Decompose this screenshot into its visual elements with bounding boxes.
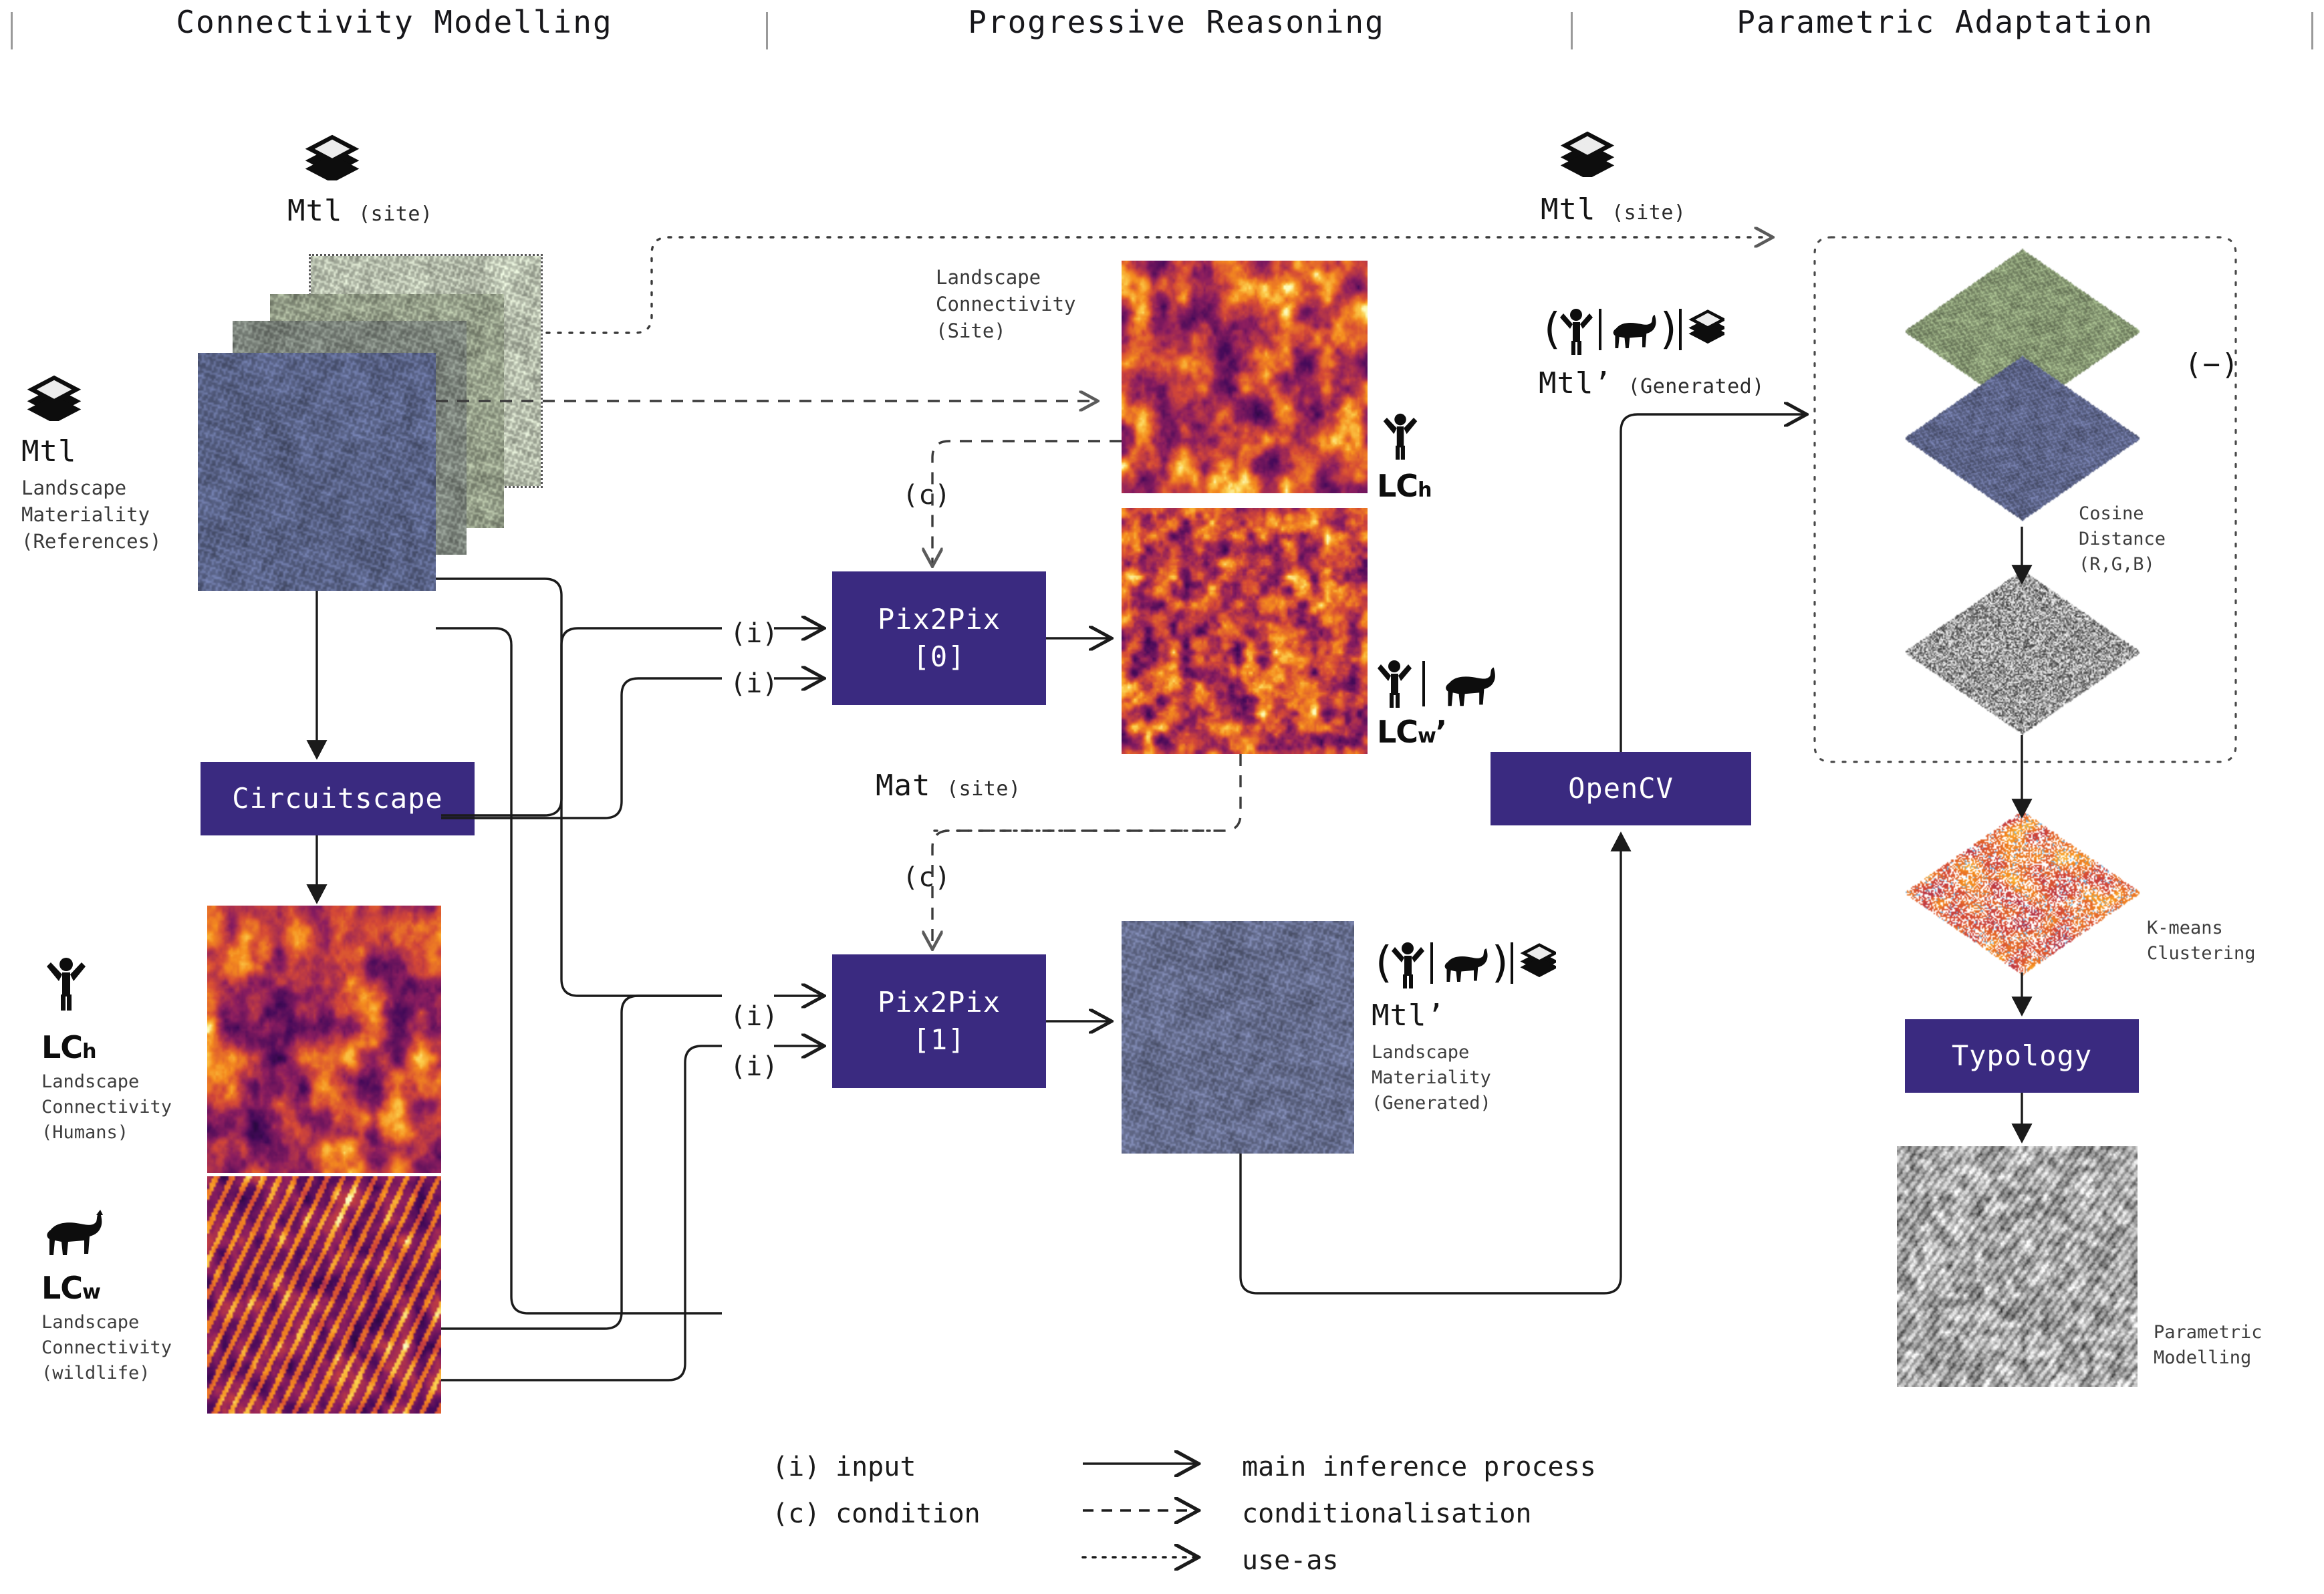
legend-text-use-as: use-as (1242, 1545, 1339, 1576)
lcw-prime-label: LCw’ (1377, 714, 1446, 750)
heatmap-lch-left (207, 906, 441, 1173)
legend-marker-condition: (c) (772, 1498, 820, 1529)
svg-text:(: ( (1370, 938, 1396, 988)
pix2pix-0-line2: [0] (913, 638, 966, 676)
lch-left-label: LCh (41, 1029, 96, 1065)
opencv-label: OpenCV (1568, 770, 1674, 807)
heatmap-lcw-left (207, 1176, 441, 1414)
human-wolf-layers-icon-mtl-prime-mid: ( ) (1369, 936, 1556, 990)
process-box-pix2pix-0[interactable]: Pix2Pix [0] (832, 571, 1046, 705)
node-label-mat-site: Mat (site) (876, 769, 1021, 803)
lcw-prime-subscript: w (1418, 724, 1436, 748)
parametric-modelling-tile (1897, 1146, 2138, 1387)
mtl-site-top-qualifier: (site) (358, 203, 432, 226)
lcw-left-subscript: w (82, 1281, 100, 1304)
node-label-mtl-site-right: Mtl (site) (1541, 192, 1686, 227)
legend-text-conditionalisation: conditionalisation (1242, 1498, 1531, 1529)
edge-label-input-p1-a: (i) (730, 1001, 778, 1032)
svg-text:): ) (1656, 305, 1682, 354)
column-title-parametric: Parametric Adaptation (1597, 4, 2293, 40)
parametric-modelling-desc: Parametric Modelling (2154, 1320, 2263, 1371)
column-title-connectivity: Connectivity Modelling (40, 4, 749, 40)
lch-left-subscript: h (82, 1040, 96, 1063)
heatmap-lcw-prime (1122, 508, 1368, 754)
generated-materiality-tile (1122, 921, 1354, 1154)
process-box-circuitscape[interactable]: Circuitscape (201, 762, 475, 835)
diagram-canvas: Connectivity Modelling Progressive Reaso… (0, 0, 2324, 1594)
diamond-tile-kmeans (1902, 809, 2142, 976)
human-icon-lch-mid (1382, 412, 1418, 460)
edge-label-input-p1-b: (i) (730, 1051, 778, 1082)
typology-label: Typology (1952, 1037, 2092, 1075)
lcw-prime-base: LC (1377, 714, 1418, 750)
lcw-left-label: LCw (41, 1270, 100, 1306)
pix2pix-1-line2: [1] (913, 1021, 966, 1059)
edge-label-condition-p0: (c) (902, 480, 950, 511)
diamond-tile-point-cloud-grey (1902, 568, 2142, 735)
pix2pix-0-line1: Pix2Pix (878, 601, 1001, 638)
human-wolf-layers-icon-mtl-prime-right: ( ) (1537, 302, 1724, 357)
minus-operator-label: (−) (2184, 348, 2239, 382)
cosine-distance-desc: Cosine Distance (R,G,B) (2079, 501, 2166, 577)
lch-mid-label: LCh (1377, 468, 1431, 504)
svg-text:): ) (1488, 938, 1514, 988)
reference-tile-1 (198, 353, 436, 591)
human-wolf-icon-lcw-prime (1377, 658, 1504, 709)
process-box-pix2pix-1[interactable]: Pix2Pix [1] (832, 954, 1046, 1088)
layers-icon-mtl-site-right (1557, 130, 1618, 177)
svg-text:(: ( (1539, 305, 1565, 354)
process-box-typology[interactable]: Typology (1905, 1019, 2139, 1093)
pix2pix-1-line1: Pix2Pix (878, 984, 1001, 1021)
heatmap-lch-mid (1122, 261, 1368, 493)
lcw-left-base: LC (41, 1270, 82, 1306)
mtl-prime-right-label: Mtl’ (1539, 366, 1612, 400)
mtl-prime-mid-desc: Landscape Materiality (Generated) (1372, 1040, 1491, 1116)
lch-left-base: LC (41, 1029, 82, 1065)
column-divider-2 (1571, 12, 1573, 49)
wolf-icon-lcw-left (39, 1210, 106, 1258)
mat-site-qualifier: (site) (946, 777, 1021, 801)
column-divider-1 (766, 12, 768, 49)
lcw-prime-suffix: ’ (1436, 714, 1446, 750)
mtl-refs-desc: Landscape Materiality (References) (21, 475, 162, 555)
legend-text-input: input (835, 1452, 916, 1482)
lch-mid-subscript: h (1418, 479, 1431, 502)
mtl-prime-mid-label: Mtl’ (1372, 999, 1445, 1033)
kmeans-clustering-desc: K-means Clustering (2147, 916, 2256, 966)
mtl-prime-right-qualifier: (Generated) (1628, 375, 1765, 398)
legend-marker-input: (i) (772, 1452, 820, 1482)
node-label-mtl-prime-right: Mtl’ (Generated) (1539, 366, 1765, 400)
process-box-opencv[interactable]: OpenCV (1491, 752, 1751, 825)
mtl-refs-label: Mtl (21, 434, 76, 469)
lc-site-desc: Landscape Connectivity (Site) (936, 264, 1076, 344)
diamond-tile-aerial-blue (1902, 354, 2142, 521)
mtl-site-right-qualifier: (site) (1611, 201, 1686, 225)
column-divider-left (11, 12, 13, 49)
edge-label-input-p0-b: (i) (730, 668, 778, 699)
legend-text-main-inference: main inference process (1242, 1452, 1596, 1482)
layers-icon-mtl-refs (24, 374, 84, 421)
column-title-progressive: Progressive Reasoning (795, 4, 1557, 40)
mat-site-label: Mat (876, 769, 930, 803)
lcw-left-desc: Landscape Connectivity (wildlife) (41, 1310, 172, 1386)
edge-label-condition-p1: (c) (902, 862, 950, 893)
human-icon-lch-left (45, 956, 87, 1011)
mtl-site-top-label: Mtl (287, 194, 342, 228)
legend-text-condition: condition (835, 1498, 981, 1529)
mtl-site-right-label: Mtl (1541, 192, 1595, 227)
edge-label-input-p0-a: (i) (730, 618, 778, 649)
lch-mid-base: LC (1377, 468, 1418, 504)
column-divider-right (2311, 12, 2313, 49)
node-label-mtl-site-top: Mtl (site) (287, 194, 433, 228)
circuitscape-label: Circuitscape (232, 780, 442, 817)
layers-icon-mtl-site-top (302, 134, 362, 180)
lch-left-desc: Landscape Connectivity (Humans) (41, 1069, 172, 1146)
